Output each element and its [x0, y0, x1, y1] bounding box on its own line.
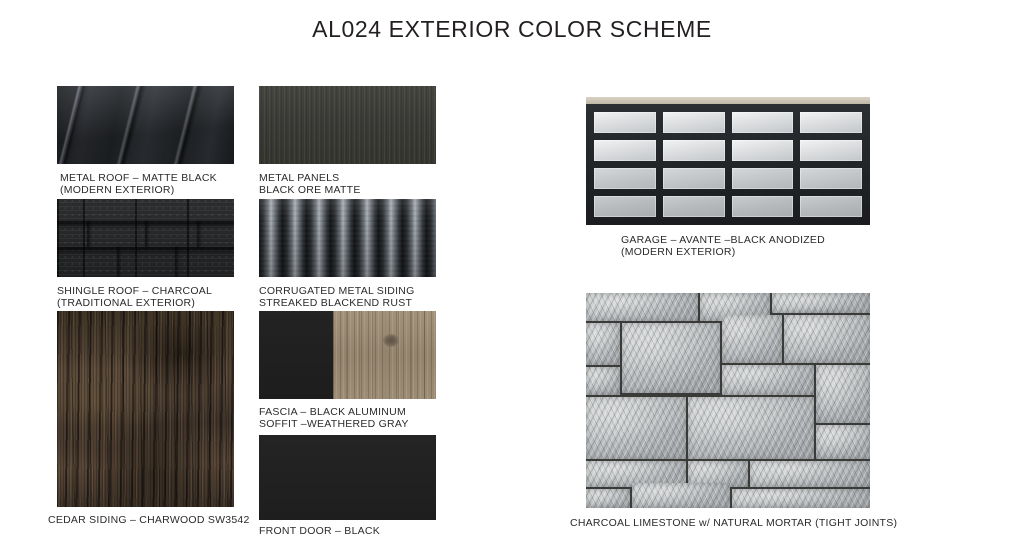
caption-charcoal-limestone: CHARCOAL LIMESTONE w/ NATURAL MORTAR (TI… — [570, 517, 890, 529]
stone-block — [586, 323, 620, 365]
stone-block — [688, 397, 814, 459]
garage-pane — [732, 196, 794, 217]
stone-block — [722, 315, 782, 363]
caption-metal-roof-line1: METAL ROOF – MATTE BLACK — [60, 172, 217, 184]
caption-corrugated-siding-line2: STREAKED BLACKEND RUST — [259, 297, 412, 309]
stone-block — [772, 293, 870, 313]
caption-cedar-siding: CEDAR SIDING – CHARWOOD SW3542 — [48, 514, 250, 526]
caption-garage-door-line2: (MODERN EXTERIOR) — [621, 246, 736, 258]
shingle-notch — [117, 247, 119, 277]
stone-block — [622, 323, 720, 393]
garage-panel-grid — [586, 104, 870, 225]
caption-corrugated-siding-line1: CORRUGATED METAL SIDING — [259, 285, 414, 297]
shingle-notch — [175, 247, 177, 277]
stone-block — [816, 365, 870, 423]
garage-pane — [800, 196, 862, 217]
garage-pane — [594, 196, 656, 217]
stone-block — [586, 397, 686, 459]
caption-metal-panels-line2: BLACK ORE MATTE — [259, 184, 361, 196]
caption-metal-roof-line2: (MODERN EXTERIOR) — [60, 184, 175, 196]
garage-pane — [594, 112, 656, 133]
shingle-notch — [87, 221, 89, 247]
garage-pane — [594, 140, 656, 161]
garage-pane — [663, 196, 725, 217]
stone-block — [722, 365, 814, 395]
stone-block — [816, 425, 870, 459]
swatch-fascia-soffit — [259, 311, 436, 399]
garage-pane — [800, 168, 862, 189]
stone-block — [586, 293, 698, 321]
garage-pane — [663, 168, 725, 189]
garage-pane — [800, 140, 862, 161]
page-title: AL024 EXTERIOR COLOR SCHEME — [0, 16, 1024, 43]
swatch-garage-door — [586, 97, 870, 225]
stone-block — [586, 367, 620, 395]
garage-pane — [594, 168, 656, 189]
swatch-shingle-roof — [57, 199, 234, 277]
shingle-tab-row-2 — [57, 247, 234, 248]
swatch-metal-roof — [57, 86, 234, 164]
caption-shingle-roof-line1: SHINGLE ROOF – CHARCOAL — [57, 285, 212, 297]
swatch-fascia-black — [259, 311, 333, 399]
caption-fascia-soffit-line2: SOFFIT –WEATHERED GRAY — [259, 418, 409, 430]
caption-garage-door-line1: GARAGE – AVANTE –BLACK ANODIZED — [621, 234, 825, 246]
shingle-notch — [145, 221, 147, 247]
swatch-charcoal-limestone — [586, 293, 870, 508]
shingle-notch — [197, 221, 199, 247]
stone-block — [784, 315, 870, 363]
swatch-soffit-weathered-gray — [333, 311, 436, 399]
stone-block — [732, 489, 870, 508]
garage-pane — [663, 112, 725, 133]
stone-block — [586, 489, 630, 508]
swatch-metal-panels — [259, 86, 436, 164]
garage-pane — [732, 168, 794, 189]
stone-block — [750, 461, 870, 487]
swatch-corrugated-siding — [259, 199, 436, 277]
swatch-cedar-siding — [57, 311, 234, 507]
garage-pane — [800, 112, 862, 133]
caption-fascia-soffit-line1: FASCIA – BLACK ALUMINUM — [259, 406, 406, 418]
garage-header-trim — [586, 97, 870, 104]
swatch-front-door — [259, 435, 436, 520]
garage-pane — [732, 140, 794, 161]
garage-pane — [663, 140, 725, 161]
stone-block — [632, 483, 730, 508]
caption-metal-panels-line1: METAL PANELS — [259, 172, 339, 184]
garage-pane — [732, 112, 794, 133]
caption-shingle-roof-line2: (TRADITIONAL EXTERIOR) — [57, 297, 195, 309]
caption-front-door: FRONT DOOR – BLACK — [259, 525, 380, 537]
